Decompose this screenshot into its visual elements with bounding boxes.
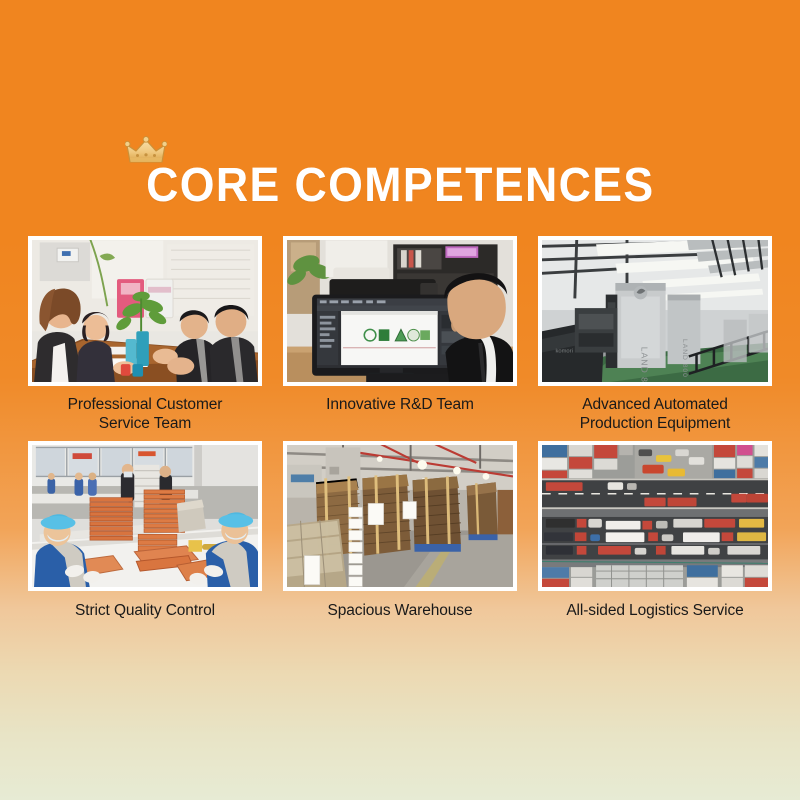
photo-warehouse-storage — [287, 445, 513, 587]
card-caption: All-sided Logistics Service — [538, 601, 772, 620]
photo-frame — [28, 236, 262, 386]
photo-designer-workstation — [287, 240, 513, 382]
card-caption: Spacious Warehouse — [283, 601, 517, 620]
card-advanced-automated-production-equipment[interactable]: LAND 800 LAND 800 komori — [538, 236, 772, 433]
card-caption: Professional Customer Service Team — [28, 395, 262, 433]
card-caption: Advanced Automated Production Equipment — [538, 395, 772, 433]
svg-text:LAND 800: LAND 800 — [639, 347, 649, 382]
photo-frame — [283, 236, 517, 386]
core-competences-banner: CORE COMPETENCES — [0, 0, 800, 800]
photo-aerial-container-yard — [542, 445, 768, 587]
page-title-block: CORE COMPETENCES — [0, 160, 800, 212]
card-spacious-warehouse[interactable]: Spacious Warehouse — [283, 441, 517, 620]
photo-printing-press-line: LAND 800 LAND 800 komori — [542, 240, 768, 382]
card-all-sided-logistics-service[interactable]: All-sided Logistics Service — [538, 441, 772, 620]
photo-frame — [28, 441, 262, 591]
photo-frame: LAND 800 LAND 800 komori — [538, 236, 772, 386]
photo-frame — [283, 441, 517, 591]
card-innovative-rd-team[interactable]: Innovative R&D Team — [283, 236, 517, 433]
photo-quality-control-line — [32, 445, 258, 587]
card-caption: Innovative R&D Team — [283, 395, 517, 414]
page-title: CORE COMPETENCES — [146, 160, 654, 212]
photo-frame — [538, 441, 772, 591]
card-strict-quality-control[interactable]: Strict Quality Control — [28, 441, 262, 620]
photo-meeting-room — [32, 240, 258, 382]
card-caption: Strict Quality Control — [28, 601, 262, 620]
svg-text:LAND 800: LAND 800 — [681, 339, 688, 378]
svg-text:komori: komori — [556, 349, 573, 355]
competence-card-grid: Professional Customer Service Team — [28, 236, 772, 620]
card-professional-customer-service-team[interactable]: Professional Customer Service Team — [28, 236, 262, 433]
